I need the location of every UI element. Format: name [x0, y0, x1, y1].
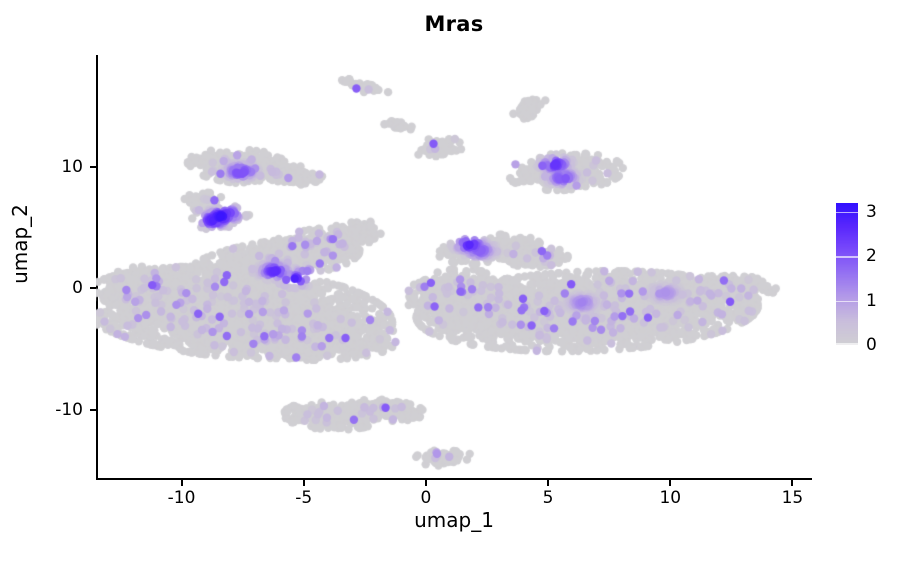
page-title: Mras	[96, 12, 812, 36]
colorbar-gradient	[836, 203, 858, 345]
x-tick-mark	[791, 480, 793, 486]
x-tick-label: 10	[659, 488, 681, 508]
y-tick-label: -10	[55, 400, 83, 420]
x-tick-label: 5	[543, 488, 554, 508]
x-tick-mark	[669, 480, 671, 486]
colorbar-tick-mark	[836, 301, 858, 303]
colorbar-tick-mark	[836, 256, 858, 258]
colorbar-tick-mark	[836, 343, 858, 345]
colorbar-tick-label: 0	[866, 335, 877, 355]
colorbar-tick-label: 2	[866, 246, 877, 266]
umap-feature-plot-figure: Mras -10-5051015 100-10 umap_1 umap_2 32…	[0, 0, 911, 562]
x-tick-label: 0	[420, 488, 431, 508]
x-axis-label: umap_1	[96, 508, 812, 532]
scatter-plot-canvas	[96, 55, 812, 480]
x-tick-mark	[303, 480, 305, 486]
x-tick-mark	[547, 480, 549, 486]
colorbar-tick-label: 3	[866, 202, 877, 222]
y-tick-label: 0	[72, 278, 83, 298]
y-tick-label: 10	[61, 157, 83, 177]
x-tick-mark	[425, 480, 427, 486]
x-tick-mark	[181, 480, 183, 486]
colorbar-tick-mark	[836, 212, 858, 214]
colorbar-tick-label: 1	[866, 291, 877, 311]
y-axis-label: umap_2	[8, 144, 32, 344]
x-tick-label: -10	[168, 488, 196, 508]
x-tick-label: 15	[782, 488, 804, 508]
x-tick-label: -5	[295, 488, 312, 508]
